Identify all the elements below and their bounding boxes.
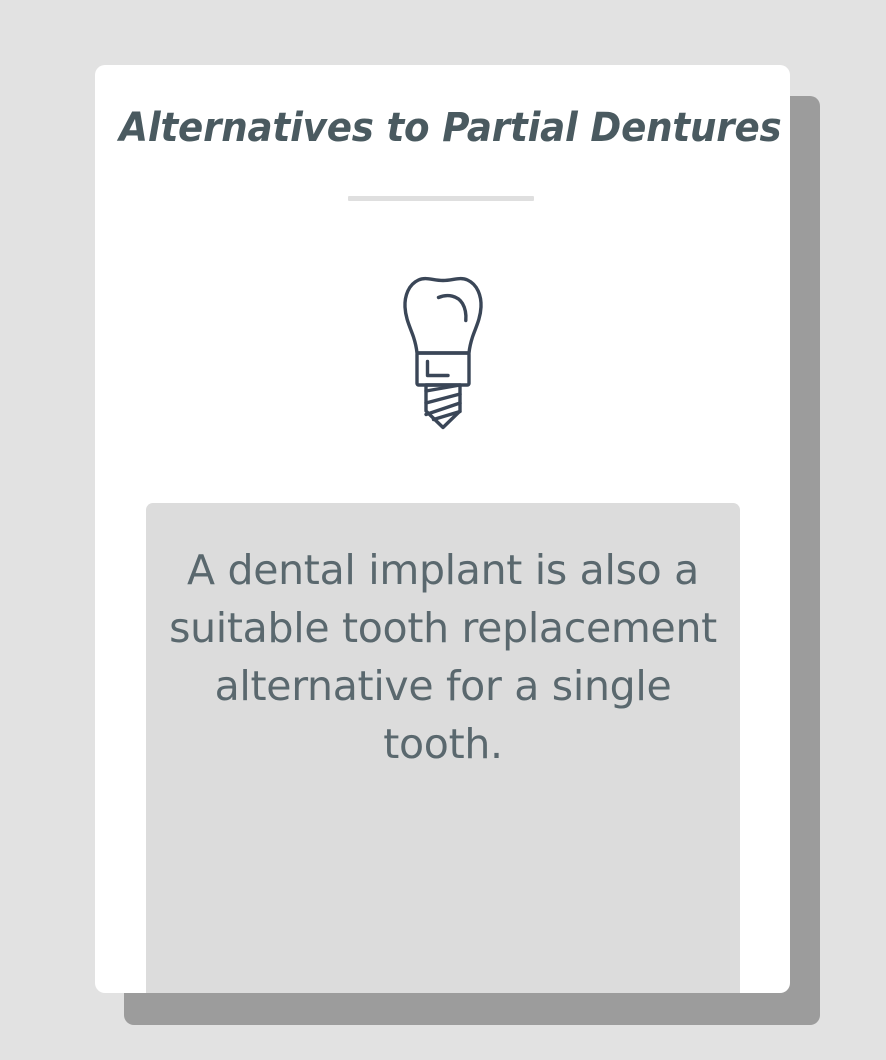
- card-title: Alternatives to Partial Dentures: [119, 105, 765, 151]
- dental-implant-glyph: [400, 275, 486, 431]
- abutment-l-mark: [428, 362, 449, 376]
- title-divider: [348, 196, 534, 201]
- dental-implant-icon: [400, 273, 486, 433]
- slide-stage: Alternatives to Partial Dentures: [0, 0, 886, 1060]
- description-panel: A dental implant is also a suitable toot…: [146, 503, 740, 993]
- abutment-band: [417, 353, 469, 385]
- crown-highlight-arc: [439, 296, 466, 321]
- description-text: A dental implant is also a suitable toot…: [164, 541, 722, 773]
- screw-thread-2: [426, 394, 460, 403]
- content-card: Alternatives to Partial Dentures: [95, 65, 790, 993]
- tooth-crown-outline: [405, 279, 481, 353]
